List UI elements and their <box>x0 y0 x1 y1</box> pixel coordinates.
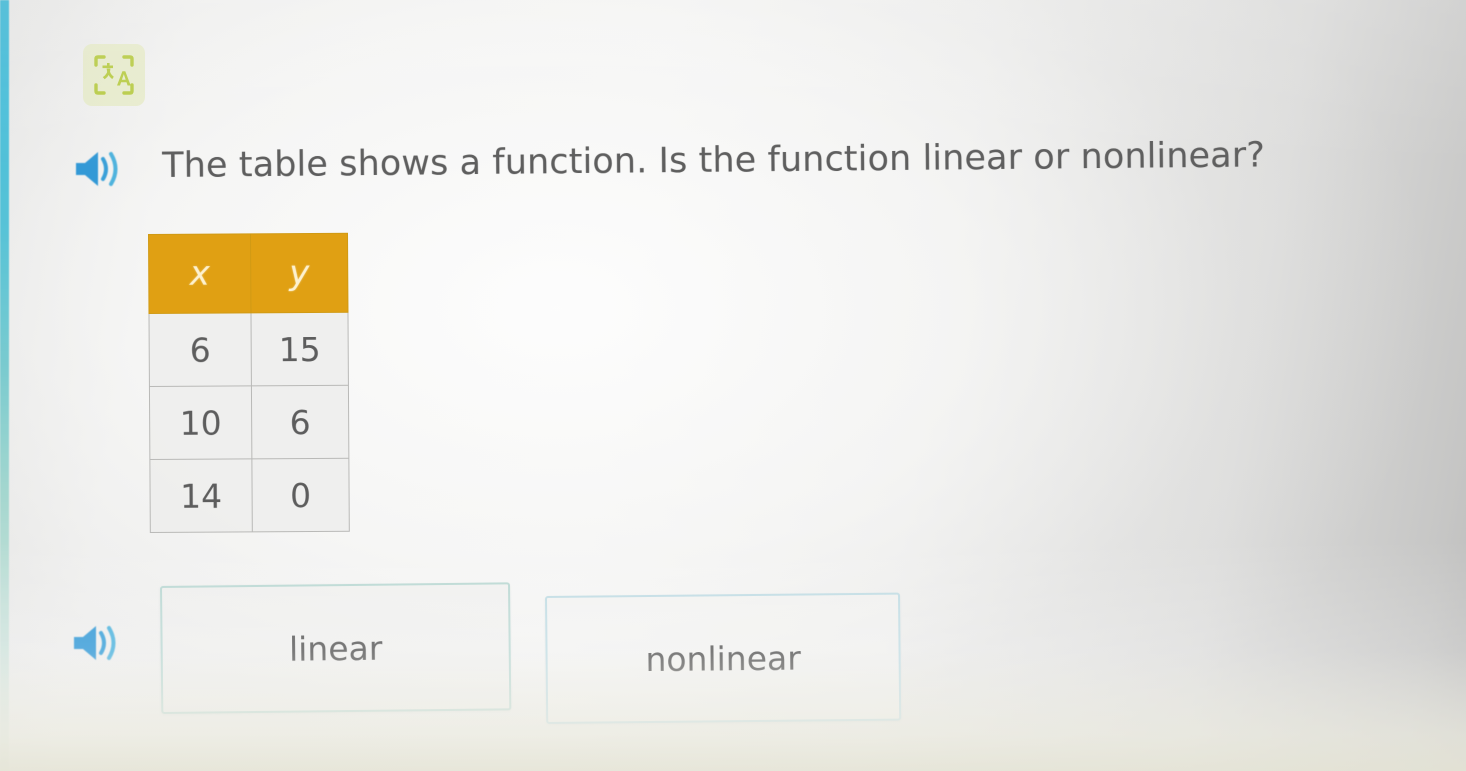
table-cell-x: 6 <box>149 313 251 387</box>
speaker-icon-question[interactable] <box>72 146 134 192</box>
table-row: 14 0 <box>150 458 349 532</box>
table-cell-y: 0 <box>252 458 349 532</box>
table-header-x: x <box>149 234 251 314</box>
question-prompt: The table shows a function. Is the funct… <box>162 132 1392 188</box>
left-edge-strip <box>0 0 9 771</box>
table-cell-x: 14 <box>150 459 252 533</box>
table-header-y: y <box>251 233 348 313</box>
answer-choice-linear[interactable]: linear <box>160 582 511 714</box>
function-table: x y 6 15 10 6 14 0 <box>148 233 350 533</box>
translate-badge-icon[interactable] <box>83 44 145 106</box>
table-cell-x: 10 <box>149 386 251 460</box>
speaker-icon-answers[interactable] <box>70 620 132 666</box>
table-row: 6 15 <box>149 312 348 386</box>
table-cell-y: 6 <box>251 385 348 459</box>
answer-choice-label: linear <box>289 628 383 668</box>
screen-surface: The table shows a function. Is the funct… <box>0 0 1466 771</box>
table-cell-y: 15 <box>251 312 348 386</box>
answer-choice-label: nonlinear <box>645 638 801 678</box>
table-row: 10 6 <box>149 385 348 459</box>
answer-choice-nonlinear[interactable]: nonlinear <box>545 593 901 724</box>
table-header-row: x y <box>149 233 348 313</box>
